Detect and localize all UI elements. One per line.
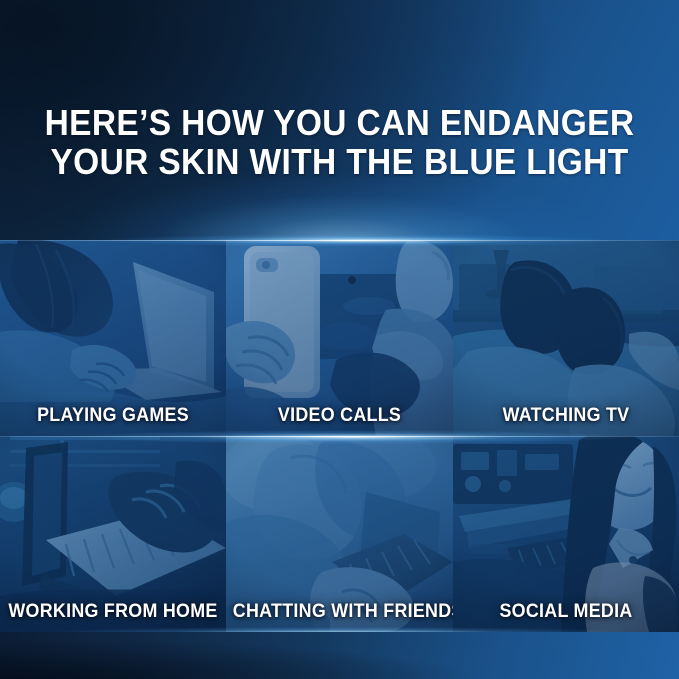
grid-cell-watching-tv[interactable]: WATCHING TV [453, 240, 679, 436]
caption-playing-games: PLAYING GAMES [7, 405, 219, 427]
header-band: HERE’S HOW YOU CAN ENDANGER YOUR SKIN WI… [0, 0, 679, 240]
caption-social-media: SOCIAL MEDIA [460, 601, 672, 623]
grid-cell-working-from-home[interactable]: WORKING FROM HOME [0, 436, 226, 632]
grid-cell-playing-games[interactable]: PLAYING GAMES [0, 240, 226, 436]
grid-cell-chatting-with-friends[interactable]: CHATTING WITH FRIENDS [226, 436, 453, 632]
activity-grid: PLAYING GAMES [0, 240, 679, 632]
caption-video-calls: VIDEO CALLS [233, 405, 446, 427]
caption-watching-tv: WATCHING TV [460, 405, 672, 427]
page-title: HERE’S HOW YOU CAN ENDANGER YOUR SKIN WI… [24, 103, 655, 181]
grid-cell-video-calls[interactable]: VIDEO CALLS [226, 240, 453, 436]
caption-working-from-home: WORKING FROM HOME [7, 601, 219, 623]
poster-root: HERE’S HOW YOU CAN ENDANGER YOUR SKIN WI… [0, 0, 679, 679]
footer-shade [0, 632, 679, 679]
grid-cell-social-media[interactable]: SOCIAL MEDIA [453, 436, 679, 632]
caption-chatting-with-friends: CHATTING WITH FRIENDS [233, 601, 446, 623]
footer-band [0, 632, 679, 679]
